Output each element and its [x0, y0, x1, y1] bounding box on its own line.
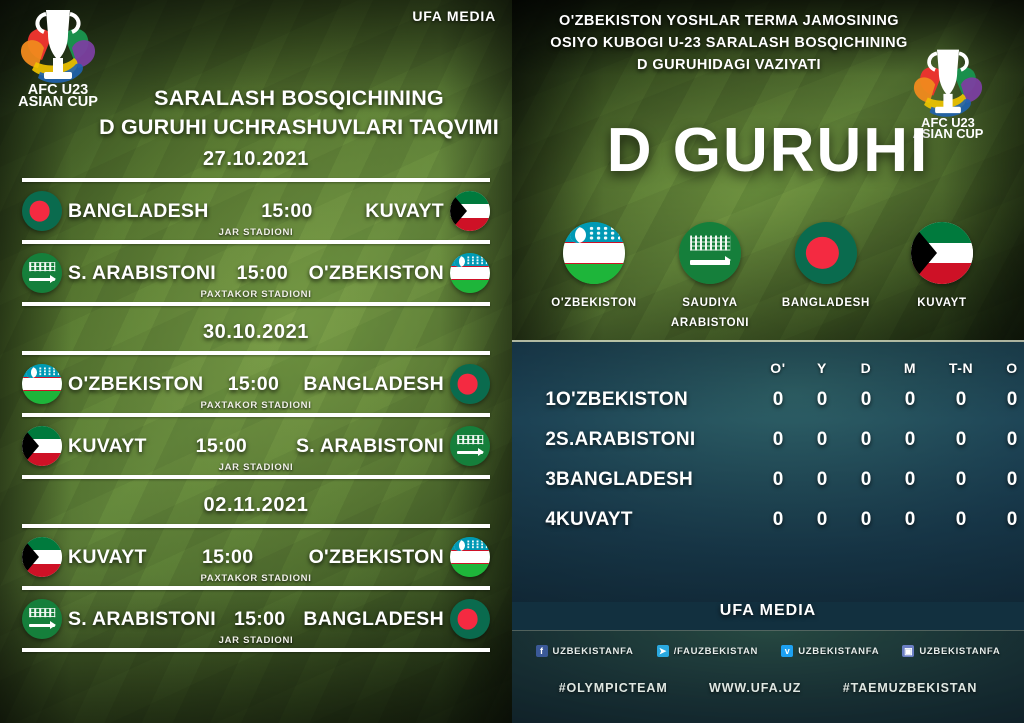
row-stat-0: 0	[756, 420, 800, 460]
row-divider	[22, 475, 490, 479]
fixture-date: 02.11.2021	[0, 494, 512, 524]
left-title-line-1: SARALASH BOSQICHINING	[86, 84, 512, 113]
fixture-date-block: 02.11.2021KUVAYT15:00O'ZBEKISTONPAXTAKOR…	[0, 494, 512, 652]
social-link[interactable]: ➤/FAUZBEKISTAN	[657, 645, 758, 657]
row-stat-5: 0	[990, 420, 1024, 460]
social-links: fUZBEKISTANFA➤/FAUZBEKISTANᴠUZBEKISTANFA…	[512, 645, 1024, 657]
right-head-line-3: D GURUHIDAGI VAZIYATI	[530, 54, 928, 76]
home-team-name: S. ARABISTONI	[68, 608, 216, 631]
social-link[interactable]: ▣UZBEKISTANFA	[902, 645, 1000, 657]
group-team-cell: SAUDIYAARABISTONI	[656, 222, 764, 333]
group-team-label: KUVAYT	[917, 294, 967, 314]
row-stat-4: 0	[932, 380, 990, 420]
match-stadium: PAXTAKOR STADIONI	[22, 400, 490, 411]
away-team-name: O'ZBEKISTON	[309, 262, 444, 285]
row-position: 4	[512, 500, 556, 540]
home-team-name: KUVAYT	[68, 546, 147, 569]
footer-tag[interactable]: #OLYMPICTEAM	[559, 681, 668, 695]
social-label: /FAUZBEKISTAN	[674, 646, 758, 657]
group-team-label: O'ZBEKISTON	[551, 294, 637, 314]
row-stat-0: 0	[756, 460, 800, 500]
match-stadium: JAR STADIONI	[22, 462, 490, 473]
group-team-label-line-2: ARABISTONI	[671, 314, 749, 334]
group-team-cell: KUVAYT	[888, 222, 996, 314]
group-team-cell: O'ZBEKISTON	[540, 222, 648, 314]
row-stat-4: 0	[932, 500, 990, 540]
left-panel-title: SARALASH BOSQICHINING D GURUHI UCHRASHUV…	[0, 84, 512, 141]
social-label: UZBEKISTANFA	[798, 646, 879, 657]
standings-table: O'YDMT-NO 1O'ZBEKISTON0000002S.ARABISTON…	[512, 342, 1024, 540]
table-row[interactable]: 4KUVAYT000000	[512, 500, 1024, 540]
row-stat-0: 0	[756, 500, 800, 540]
col-team	[556, 342, 756, 380]
row-stat-5: 0	[990, 380, 1024, 420]
right-head-line-1: O'ZBEKISTON YOSHLAR TERMA JAMOSINING	[530, 10, 928, 32]
kuwait-flag-icon	[22, 426, 62, 466]
social-link[interactable]: fUZBEKISTANFA	[536, 645, 634, 657]
group-team-label-line-1: BANGLADESH	[782, 294, 870, 314]
group-team-label-line-1: O'ZBEKISTON	[551, 294, 637, 314]
col-stat-1: Y	[800, 342, 844, 380]
row-team-name: O'ZBEKISTON	[556, 380, 756, 420]
row-position: 1	[512, 380, 556, 420]
col-stat-0: O'	[756, 342, 800, 380]
row-stat-3: 0	[888, 380, 932, 420]
section-divider	[512, 340, 1024, 342]
telegram-icon: ➤	[657, 645, 669, 657]
ufa-media-watermark-right: UFA MEDIA	[512, 602, 1024, 620]
row-stat-4: 0	[932, 420, 990, 460]
row-stat-0: 0	[756, 380, 800, 420]
row-stat-1: 0	[800, 460, 844, 500]
row-stat-5: 0	[990, 460, 1024, 500]
match-row[interactable]: O'ZBEKISTON15:00BANGLADESHPAXTAKOR STADI…	[22, 355, 490, 413]
away-team-name: S. ARABISTONI	[296, 435, 444, 458]
uzbekistan-flag-icon	[450, 537, 490, 577]
poster-root: AFC U23 ASIAN CUP UFA MEDIA SARALASH BOS…	[0, 0, 1024, 723]
row-stat-1: 0	[800, 380, 844, 420]
uzbekistan-flag-icon	[22, 364, 62, 404]
standings-body: 1O'ZBEKISTON0000002S.ARABISTONI0000003BA…	[512, 380, 1024, 540]
bangladesh-flag-icon	[22, 191, 62, 231]
match-row[interactable]: KUVAYT15:00O'ZBEKISTONPAXTAKOR STADIONI	[22, 528, 490, 586]
row-position: 3	[512, 460, 556, 500]
row-stat-5: 0	[990, 500, 1024, 540]
footer: fUZBEKISTANFA➤/FAUZBEKISTANᴠUZBEKISTANFA…	[512, 630, 1024, 723]
fixture-date: 27.10.2021	[0, 148, 512, 178]
uzbekistan-flag-icon	[450, 253, 490, 293]
kuwait-flag-icon	[450, 191, 490, 231]
away-team-name: BANGLADESH	[303, 373, 444, 396]
match-time: 15:00	[237, 262, 288, 285]
bangladesh-flag-icon	[450, 364, 490, 404]
footer-tag[interactable]: #TAEMUZBEKISTAN	[843, 681, 978, 695]
col-stat-2: D	[844, 342, 888, 380]
row-stat-2: 0	[844, 380, 888, 420]
group-title: D GURUHI	[512, 120, 1024, 182]
row-divider	[22, 648, 490, 652]
row-stat-2: 0	[844, 500, 888, 540]
table-row[interactable]: 1O'ZBEKISTON000000	[512, 380, 1024, 420]
match-time: 15:00	[196, 435, 247, 458]
kuwait-flag-icon	[22, 537, 62, 577]
col-stat-4: T-N	[932, 342, 990, 380]
standings-table-container: O'YDMT-NO 1O'ZBEKISTON0000002S.ARABISTON…	[512, 342, 1024, 602]
row-stat-1: 0	[800, 420, 844, 460]
right-panel-heading: O'ZBEKISTON YOSHLAR TERMA JAMOSINING OSI…	[530, 10, 928, 77]
fixture-date-block: 27.10.2021BANGLADESH15:00KUVAYTJAR STADI…	[0, 148, 512, 306]
away-team-name: O'ZBEKISTON	[309, 546, 444, 569]
row-stat-3: 0	[888, 500, 932, 540]
match-time: 15:00	[202, 546, 253, 569]
away-team-name: BANGLADESH	[303, 608, 444, 631]
right-head-line-2: OSIYO KUBOGI U-23 SARALASH BOSQICHINING	[530, 32, 928, 54]
match-row[interactable]: S. ARABISTONI15:00O'ZBEKISTONPAXTAKOR ST…	[22, 244, 490, 302]
saudi-arabia-flag-icon	[22, 253, 62, 293]
match-time: 15:00	[234, 608, 285, 631]
kuwait-flag-icon	[911, 222, 973, 284]
row-stat-1: 0	[800, 500, 844, 540]
match-stadium: PAXTAKOR STADIONI	[22, 289, 490, 300]
match-time: 15:00	[261, 200, 312, 223]
row-stat-2: 0	[844, 420, 888, 460]
col-stat-3: M	[888, 342, 932, 380]
match-row[interactable]: KUVAYT15:00S. ARABISTONIJAR STADIONI	[22, 417, 490, 475]
social-link[interactable]: ᴠUZBEKISTANFA	[781, 645, 879, 657]
row-stat-4: 0	[932, 460, 990, 500]
match-time: 15:00	[228, 373, 279, 396]
match-stadium: PAXTAKOR STADIONI	[22, 573, 490, 584]
saudi-arabia-flag-icon	[22, 599, 62, 639]
instagram-icon: ▣	[902, 645, 914, 657]
ufa-media-watermark-left: UFA MEDIA	[412, 8, 496, 24]
social-label: UZBEKISTANFA	[553, 646, 634, 657]
table-row[interactable]: 2S.ARABISTONI000000	[512, 420, 1024, 460]
home-team-name: O'ZBEKISTON	[68, 373, 203, 396]
match-row[interactable]: S. ARABISTONI15:00BANGLADESHJAR STADIONI	[22, 590, 490, 648]
social-label: UZBEKISTANFA	[919, 646, 1000, 657]
fixture-list: 27.10.2021BANGLADESH15:00KUVAYTJAR STADI…	[0, 148, 512, 667]
group-team-label-line-1: SAUDIYA	[671, 294, 749, 314]
away-team-name: KUVAYT	[365, 200, 444, 223]
group-team-label: SAUDIYAARABISTONI	[671, 294, 749, 333]
row-divider	[22, 302, 490, 306]
row-stat-2: 0	[844, 460, 888, 500]
home-team-name: BANGLADESH	[68, 200, 209, 223]
group-team-label: BANGLADESH	[782, 294, 870, 314]
saudi-arabia-flag-icon	[450, 426, 490, 466]
uzbekistan-flag-icon	[563, 222, 625, 284]
bangladesh-flag-icon	[795, 222, 857, 284]
match-stadium: JAR STADIONI	[22, 635, 490, 646]
row-stat-3: 0	[888, 460, 932, 500]
group-team-label-line-1: KUVAYT	[917, 294, 967, 314]
standings-header-row: O'YDMT-NO	[512, 342, 1024, 380]
left-title-line-2: D GURUHI UCHRASHUVLARI TAQVIMI	[86, 113, 512, 142]
row-team-name: KUVAYT	[556, 500, 756, 540]
row-team-name: BANGLADESH	[556, 460, 756, 500]
left-panel-fixtures: AFC U23 ASIAN CUP UFA MEDIA SARALASH BOS…	[0, 0, 512, 723]
row-position: 2	[512, 420, 556, 460]
right-panel-standings: AFC U23 ASIAN CUP O'ZBEKISTON YOSHLAR TE…	[512, 0, 1024, 723]
fixture-date: 30.10.2021	[0, 321, 512, 351]
fixture-date-block: 30.10.2021O'ZBEKISTON15:00BANGLADESHPAXT…	[0, 321, 512, 479]
group-teams-flags: O'ZBEKISTONSAUDIYAARABISTONIBANGLADESHKU…	[512, 222, 1024, 333]
footer-tag[interactable]: WWW.UFA.UZ	[709, 681, 801, 695]
footer-tags: #OLYMPICTEAMWWW.UFA.UZ#TAEMUZBEKISTAN	[512, 681, 1024, 695]
row-team-name: S.ARABISTONI	[556, 420, 756, 460]
col-position	[512, 342, 556, 380]
twitter-icon: ᴠ	[781, 645, 793, 657]
table-row[interactable]: 3BANGLADESH000000	[512, 460, 1024, 500]
home-team-name: KUVAYT	[68, 435, 147, 458]
group-team-cell: BANGLADESH	[772, 222, 880, 314]
bangladesh-flag-icon	[450, 599, 490, 639]
home-team-name: S. ARABISTONI	[68, 262, 216, 285]
col-stat-5: O	[990, 342, 1024, 380]
match-row[interactable]: BANGLADESH15:00KUVAYTJAR STADIONI	[22, 182, 490, 240]
saudi-arabia-flag-icon	[679, 222, 741, 284]
facebook-icon: f	[536, 645, 548, 657]
row-stat-3: 0	[888, 420, 932, 460]
match-stadium: JAR STADIONI	[22, 227, 490, 238]
